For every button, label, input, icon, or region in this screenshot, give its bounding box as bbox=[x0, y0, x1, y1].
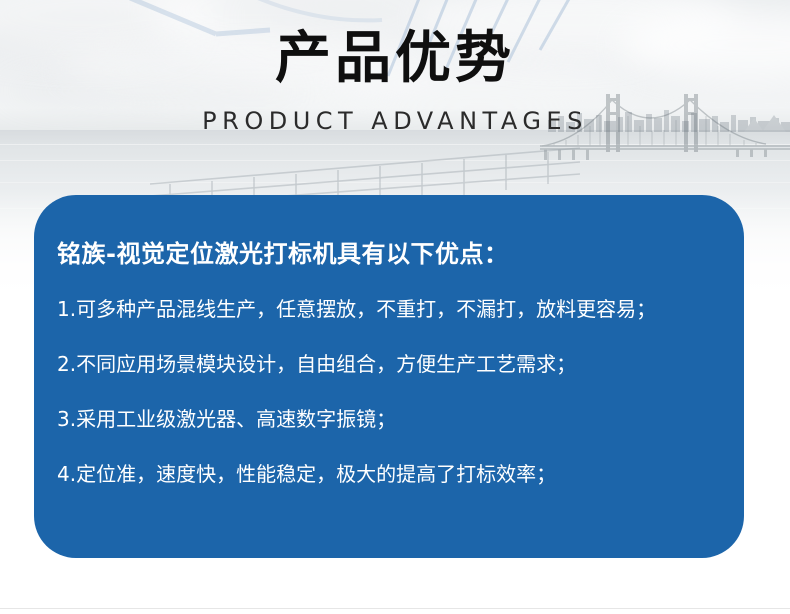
list-item: 1.可多种产品混线生产，任意摆放，不重打，不漏打，放料更容易； bbox=[57, 296, 724, 322]
product-advantages-page: 产品优势 PRODUCT ADVANTAGES 铭族-视觉定位激光打标机具有以下… bbox=[0, 0, 790, 614]
advantages-heading: 铭族-视觉定位激光打标机具有以下优点： bbox=[57, 237, 508, 271]
advantages-list: 1.可多种产品混线生产，任意摆放，不重打，不漏打，放料更容易； 2.不同应用场景… bbox=[57, 296, 724, 487]
list-item: 2.不同应用场景模块设计，自由组合，方便生产工艺需求； bbox=[57, 351, 724, 377]
list-item: 4.定位准，速度快，性能稳定，极大的提高了打标效率； bbox=[57, 461, 724, 487]
page-title: 产品优势 bbox=[0, 28, 790, 90]
list-item: 3.采用工业级激光器、高速数字振镜； bbox=[57, 406, 724, 432]
bottom-divider bbox=[0, 608, 790, 609]
page-subtitle: PRODUCT ADVANTAGES bbox=[0, 107, 790, 135]
advantages-panel: 铭族-视觉定位激光打标机具有以下优点： 1.可多种产品混线生产，任意摆放，不重打… bbox=[34, 195, 744, 558]
